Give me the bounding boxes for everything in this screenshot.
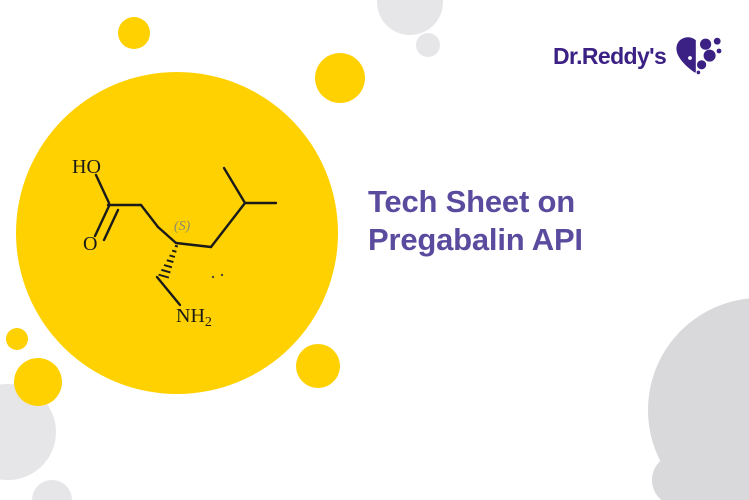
heart-highlight-dot xyxy=(688,56,692,60)
yellow-circle-left-mid xyxy=(14,358,62,406)
gray-circle-bottom-left-small xyxy=(32,480,72,500)
logo-dot-2 xyxy=(714,38,721,45)
yellow-circle-top-mid xyxy=(315,53,365,103)
yellow-circle-bottom-mid xyxy=(296,344,340,388)
gray-circle-bottom-right-medium xyxy=(652,454,704,500)
logo-dot-4 xyxy=(704,50,716,62)
logo-dot-6 xyxy=(697,71,701,75)
brand-wordmark: Dr.Reddy's xyxy=(553,45,666,68)
gray-circle-top xyxy=(377,0,443,35)
heart-half-shape xyxy=(677,37,696,72)
title-block: Tech Sheet on Pregabalin API xyxy=(368,183,698,259)
brand-logo: Dr.Reddy's xyxy=(553,36,723,76)
logo-dot-1 xyxy=(700,39,711,50)
hero-yellow-disc xyxy=(16,72,338,394)
logo-dot-5 xyxy=(697,60,706,69)
gray-circle-top-small xyxy=(416,33,440,57)
page-title: Tech Sheet on Pregabalin API xyxy=(368,183,698,259)
yellow-circle-top-left xyxy=(118,17,150,49)
logo-dot-3 xyxy=(717,49,722,54)
yellow-circle-left-small xyxy=(6,328,28,350)
tech-sheet-banner: HO O NH2 (S) Tech Sheet on Pregabalin AP… xyxy=(0,0,749,500)
dr-reddys-heart-dots-logo-icon xyxy=(675,36,723,76)
